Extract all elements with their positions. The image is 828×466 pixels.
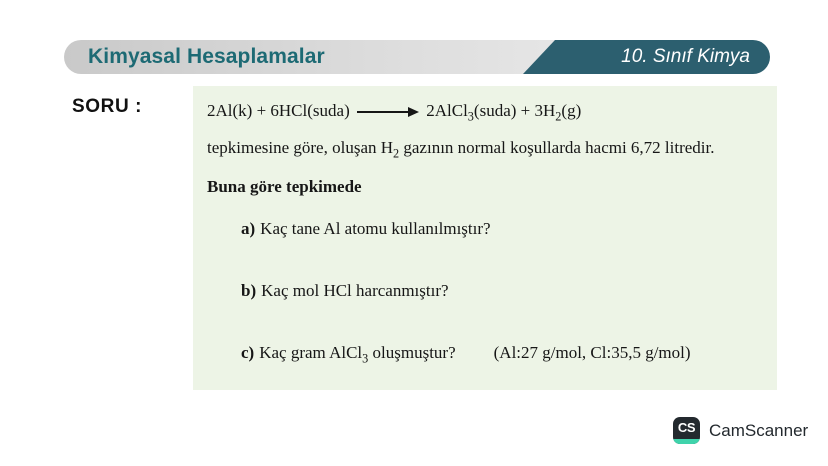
question-item-c: c)Kaç gram AlCl3 oluşmuştur?(Al:27 g/mol… (241, 343, 763, 366)
statement-part-1: tepkimesine göre, oluşan H (207, 138, 393, 157)
camscanner-logo-icon: CS (673, 417, 700, 444)
right-arrow-icon (357, 107, 419, 117)
equation-product-2: (suda) + 3H (474, 101, 555, 120)
item-c-text-pre: Kaç gram AlCl (259, 343, 362, 362)
item-c-letter: c) (241, 343, 254, 362)
question-item-a: a)Kaç tane Al atomu kullanılmıştır? (241, 219, 763, 239)
camscanner-logo-text: CS (673, 417, 700, 439)
item-c-text-post: oluşmuştur? (368, 343, 455, 362)
equation-reactants: 2Al(k) + 6HCl(suda) (207, 101, 350, 120)
question-prompt: Buna göre tepkimede (207, 177, 763, 197)
question-statement: tepkimesine göre, oluşan H2 gazının norm… (207, 136, 763, 163)
camscanner-logo-accent-bar (673, 439, 700, 444)
header-banner: Kimyasal Hesaplamalar 10. Sınıf Kimya (64, 40, 770, 74)
item-a-letter: a) (241, 219, 255, 238)
equation-product-3: (g) (561, 101, 581, 120)
subject-label: 10. Sınıf Kimya (621, 40, 750, 74)
item-a-text: Kaç tane Al atomu kullanılmıştır? (260, 219, 490, 238)
question-item-b: b)Kaç mol HCl harcanmıştır? (241, 281, 763, 301)
question-label: SORU : (72, 96, 142, 118)
equation-product-1: 2AlCl (426, 101, 468, 120)
chemical-equation: 2Al(k) + 6HCl(suda) 2AlCl3(suda) + 3H2(g… (207, 98, 763, 126)
camscanner-name: CamScanner (709, 421, 808, 441)
question-content-box: 2Al(k) + 6HCl(suda) 2AlCl3(suda) + 3H2(g… (193, 86, 777, 390)
statement-part-2: gazının normal koşullarda hacmi 6,72 lit… (399, 138, 714, 157)
item-b-text: Kaç mol HCl harcanmıştır? (261, 281, 448, 300)
page-title: Kimyasal Hesaplamalar (88, 40, 325, 74)
camscanner-watermark: CS CamScanner (673, 417, 808, 444)
item-b-letter: b) (241, 281, 256, 300)
item-c-hint: (Al:27 g/mol, Cl:35,5 g/mol) (494, 343, 691, 362)
